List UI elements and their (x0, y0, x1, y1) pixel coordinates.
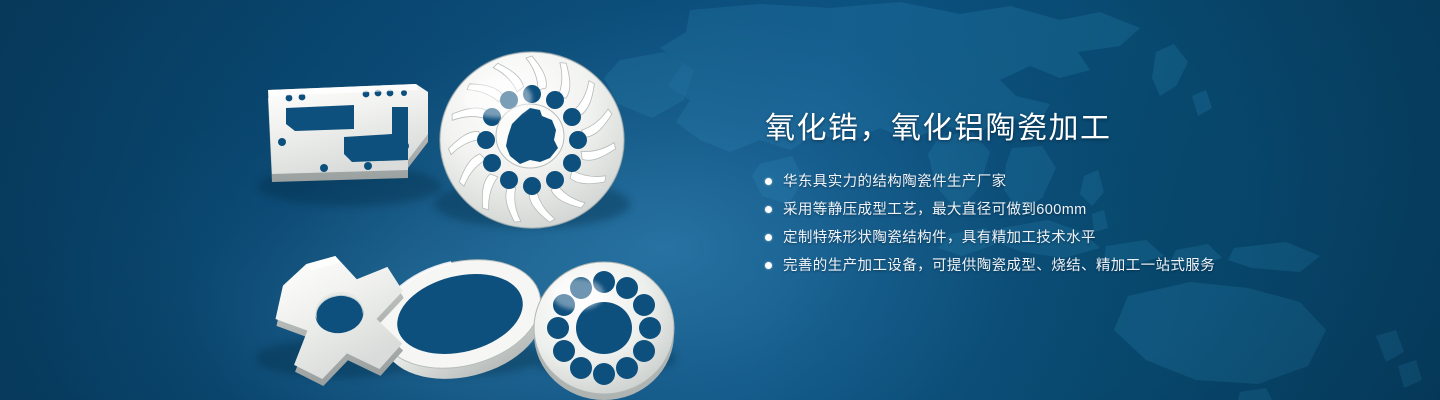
bullet-dot-icon (765, 206, 772, 213)
ceramic-impeller (440, 52, 624, 228)
feature-list-item: 采用等静压成型工艺，最大直径可做到600mm (765, 198, 1325, 222)
bullet-dot-icon (765, 178, 772, 185)
ceramic-mounting-plate (268, 84, 428, 182)
hero-banner: 氧化锆，氧化铝陶瓷加工 华东具实力的结构陶瓷件生产厂家 采用等静压成型工艺，最大… (0, 0, 1440, 400)
feature-text: 完善的生产加工设备，可提供陶瓷成型、烧结、精加工一站式服务 (783, 254, 1215, 278)
feature-list-item: 华东具实力的结构陶瓷件生产厂家 (765, 170, 1325, 194)
feature-text: 华东具实力的结构陶瓷件生产厂家 (783, 170, 1007, 194)
bullet-dot-icon (765, 234, 772, 241)
banner-copy: 氧化锆，氧化铝陶瓷加工 华东具实力的结构陶瓷件生产厂家 采用等静压成型工艺，最大… (765, 110, 1325, 282)
feature-text: 采用等静压成型工艺，最大直径可做到600mm (783, 198, 1087, 222)
feature-text: 定制特殊形状陶瓷结构件，具有精加工技术水平 (783, 226, 1096, 250)
ceramic-perforated-disc (534, 262, 674, 400)
feature-list: 华东具实力的结构陶瓷件生产厂家 采用等静压成型工艺，最大直径可做到600mm 定… (765, 170, 1325, 278)
product-photo-group (232, 28, 702, 388)
banner-headline: 氧化锆，氧化铝陶瓷加工 (765, 110, 1325, 148)
feature-list-item: 定制特殊形状陶瓷结构件，具有精加工技术水平 (765, 226, 1325, 250)
feature-list-item: 完善的生产加工设备，可提供陶瓷成型、烧结、精加工一站式服务 (765, 254, 1325, 278)
bullet-dot-icon (765, 262, 772, 269)
